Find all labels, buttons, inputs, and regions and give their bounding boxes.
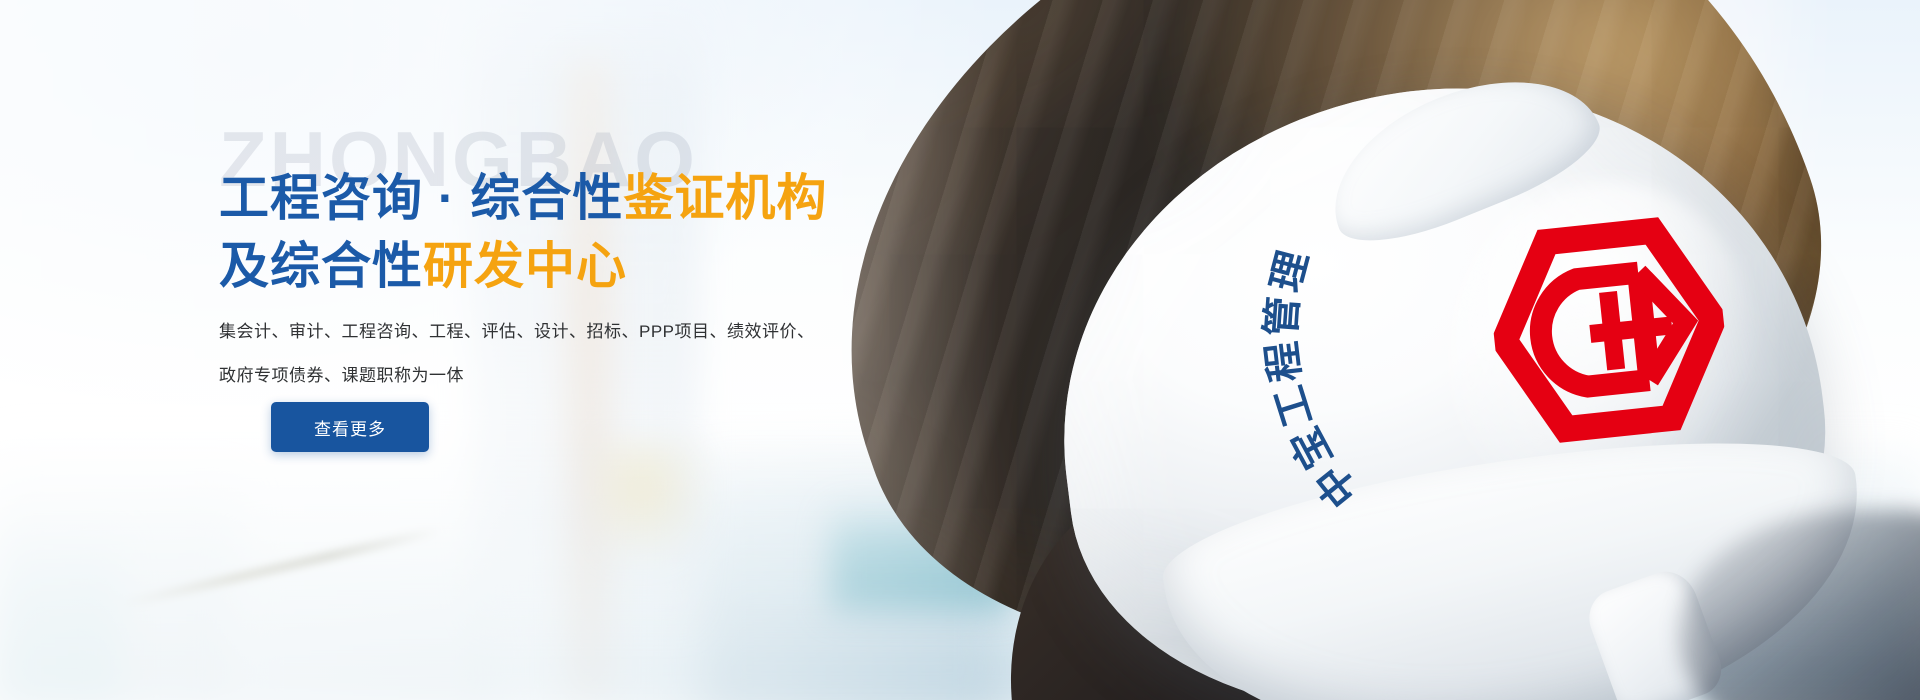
headline-line-1: 工程咨询 · 综合性鉴证机构 (219, 165, 827, 233)
headline-line-2-accent: 研发中心 (423, 238, 627, 294)
hero-banner: 中宝工程管理 ZHONGBAO 工程咨询 · 综合性鉴证机构 及综合性研发中心 … (0, 0, 1920, 700)
helmet-brand-text: 中宝工程管理 (1350, 80, 1710, 520)
headline-line-2-primary: 及综合性 (219, 238, 423, 294)
headline-line-1-primary: 工程咨询 · 综合性 (219, 170, 623, 226)
hero-description-line-1: 集会计、审计、工程咨询、工程、评估、设计、招标、PPP项目、绩效评价、 (219, 310, 859, 354)
hero-description: 集会计、审计、工程咨询、工程、评估、设计、招标、PPP项目、绩效评价、 政府专项… (219, 310, 859, 398)
hero-description-line-2: 政府专项债券、课题职称为一体 (219, 354, 859, 398)
headline-line-2: 及综合性研发中心 (219, 233, 827, 301)
headline-line-1-accent: 鉴证机构 (623, 170, 827, 226)
view-more-button[interactable]: 查看更多 (271, 402, 429, 452)
hero-copy-block: ZHONGBAO 工程咨询 · 综合性鉴证机构 及综合性研发中心 集会计、审计、… (205, 0, 1105, 700)
safety-helmet: 中宝工程管理 (1020, 30, 1920, 700)
page-title: 工程咨询 · 综合性鉴证机构 及综合性研发中心 (219, 165, 827, 300)
